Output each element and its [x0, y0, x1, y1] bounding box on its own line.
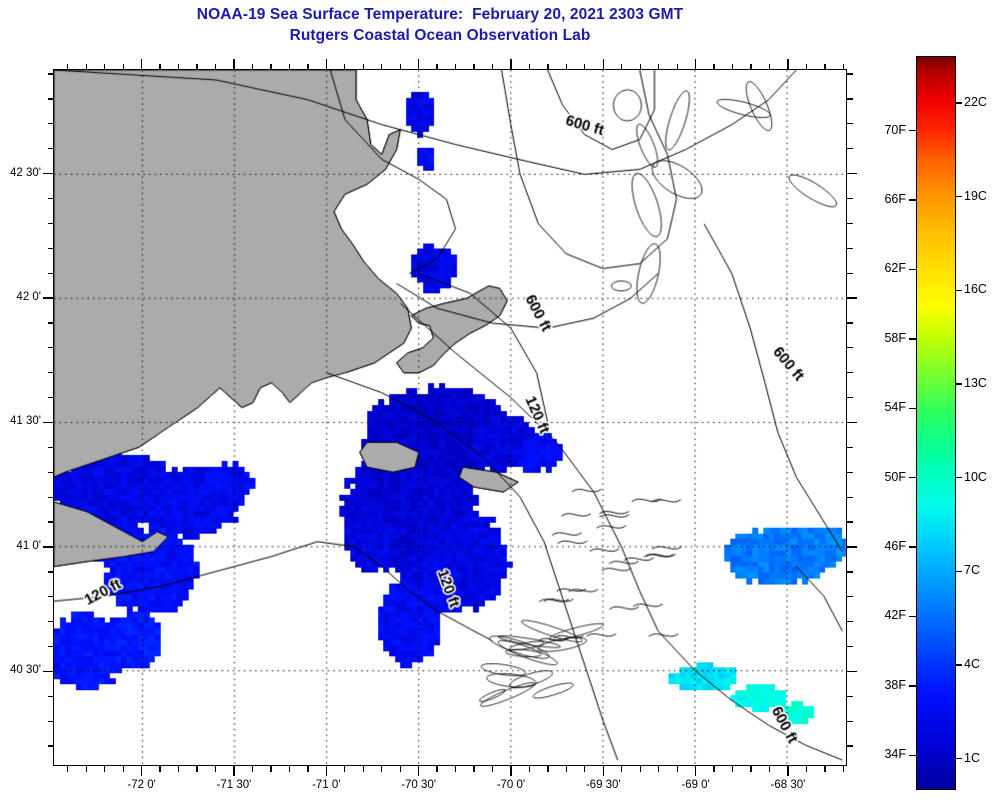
y-tick-right	[847, 322, 853, 323]
colorbar-tick-c	[956, 758, 962, 759]
y-tick-right	[847, 646, 853, 647]
x-tick-top	[270, 64, 271, 70]
x-tick-minor	[196, 766, 197, 772]
colorbar-label-fahrenheit: 50F	[854, 470, 906, 484]
y-tick-right	[847, 173, 857, 174]
x-tick-minor	[750, 766, 751, 772]
y-tick-right	[847, 273, 853, 274]
x-tick-top	[455, 64, 456, 70]
colorbar-label-fahrenheit: 54F	[854, 400, 906, 414]
x-tick-minor	[713, 766, 714, 772]
y-tick-minor	[48, 571, 54, 572]
x-tick-top	[732, 64, 733, 70]
y-tick-right	[847, 98, 853, 99]
x-tick-minor	[621, 766, 622, 772]
colorbar-tick-f	[909, 477, 916, 478]
x-tick-minor	[178, 766, 179, 772]
x-tick-minor	[215, 766, 216, 772]
x-tick-top	[566, 64, 567, 70]
colorbar-tick-c	[956, 383, 962, 384]
x-tick-top	[344, 64, 345, 70]
colorbar-label-celsius: 22C	[964, 95, 992, 109]
sst-colorbar	[916, 56, 956, 790]
y-tick-right	[847, 621, 853, 622]
y-tick-right	[847, 521, 853, 522]
x-tick-top	[806, 64, 807, 70]
x-tick-top	[510, 59, 511, 69]
y-tick-minor	[48, 397, 54, 398]
x-tick-minor	[640, 766, 641, 772]
x-tick-top	[233, 59, 234, 69]
colorbar-tick-c	[956, 290, 962, 291]
x-tick-minor	[418, 766, 419, 776]
x-tick-minor	[824, 766, 825, 772]
x-axis-label: -69 0'	[656, 779, 736, 791]
y-tick-right	[847, 397, 853, 398]
x-tick-minor	[566, 766, 567, 772]
x-tick-minor	[677, 766, 678, 772]
y-tick-right	[847, 447, 853, 448]
x-tick-top	[326, 59, 327, 69]
x-tick-minor	[510, 766, 511, 776]
x-tick-top	[547, 64, 548, 70]
y-tick-right	[847, 123, 853, 124]
sst-map-frame	[53, 69, 847, 766]
y-tick-minor	[48, 521, 54, 522]
colorbar-gradient	[916, 56, 956, 790]
y-tick-minor	[48, 123, 54, 124]
colorbar-label-fahrenheit: 46F	[854, 539, 906, 553]
x-tick-top	[603, 59, 604, 69]
x-tick-top	[695, 59, 696, 69]
colorbar-tick-f	[909, 546, 916, 547]
x-tick-minor	[307, 766, 308, 772]
x-tick-top	[750, 64, 751, 70]
x-axis-label: -71 30'	[194, 779, 274, 791]
colorbar-tick-f	[909, 408, 916, 409]
y-tick-minor	[48, 322, 54, 323]
x-tick-top	[584, 64, 585, 70]
x-tick-minor	[806, 766, 807, 772]
x-axis-label: -68 30'	[748, 779, 828, 791]
y-tick-minor	[48, 497, 54, 498]
y-tick-right	[847, 297, 857, 298]
y-tick-right	[847, 372, 853, 373]
x-tick-minor	[123, 766, 124, 772]
colorbar-tick-c	[956, 477, 962, 478]
x-tick-top	[677, 64, 678, 70]
y-tick-minor	[43, 546, 53, 547]
x-tick-top	[473, 64, 474, 70]
x-tick-top	[787, 59, 788, 69]
x-tick-top	[67, 64, 68, 70]
y-tick-right	[847, 696, 853, 697]
x-tick-minor	[381, 766, 382, 772]
x-tick-minor	[67, 766, 68, 772]
x-tick-top	[141, 59, 142, 69]
x-tick-top	[529, 64, 530, 70]
x-tick-minor	[603, 766, 604, 776]
x-tick-minor	[843, 766, 844, 772]
x-tick-minor	[529, 766, 530, 772]
y-tick-right	[847, 347, 853, 348]
y-tick-right	[847, 745, 853, 746]
x-tick-minor	[492, 766, 493, 772]
y-axis-label: 41 30'	[0, 415, 41, 427]
y-tick-minor	[48, 696, 54, 697]
colorbar-tick-f	[909, 199, 916, 200]
x-tick-minor	[252, 766, 253, 772]
colorbar-label-fahrenheit: 66F	[854, 192, 906, 206]
sst-map-canvas	[54, 70, 846, 765]
colorbar-label-celsius: 7C	[964, 563, 992, 577]
colorbar-tick-f	[909, 338, 916, 339]
x-tick-top	[86, 64, 87, 70]
x-tick-minor	[326, 766, 327, 776]
y-tick-minor	[43, 671, 53, 672]
x-tick-top	[381, 64, 382, 70]
x-tick-top	[123, 64, 124, 70]
x-tick-top	[769, 64, 770, 70]
colorbar-tick-c	[956, 102, 962, 103]
x-tick-top	[289, 64, 290, 70]
x-tick-top	[363, 64, 364, 70]
colorbar-label-celsius: 13C	[964, 376, 992, 390]
y-tick-minor	[43, 297, 53, 298]
x-axis-label: -70 0'	[471, 779, 551, 791]
colorbar-label-fahrenheit: 34F	[854, 747, 906, 761]
y-tick-minor	[48, 98, 54, 99]
x-tick-minor	[270, 766, 271, 772]
x-axis-label: -70 30'	[379, 779, 459, 791]
x-tick-top	[159, 64, 160, 70]
x-tick-top	[824, 64, 825, 70]
x-tick-top	[307, 64, 308, 70]
title-line-1: NOAA-19 Sea Surface Temperature: Februar…	[0, 4, 880, 25]
x-axis-label: -72 0'	[102, 779, 182, 791]
x-tick-minor	[86, 766, 87, 772]
y-tick-minor	[48, 198, 54, 199]
y-tick-right	[847, 571, 853, 572]
colorbar-tick-f	[909, 616, 916, 617]
x-tick-top	[713, 64, 714, 70]
colorbar-label-fahrenheit: 38F	[854, 678, 906, 692]
colorbar-label-fahrenheit: 70F	[854, 123, 906, 137]
y-tick-right	[847, 73, 853, 74]
y-tick-right	[847, 422, 857, 423]
x-tick-top	[178, 64, 179, 70]
y-tick-right	[847, 671, 857, 672]
y-tick-right	[847, 248, 853, 249]
colorbar-tick-f	[909, 130, 916, 131]
y-tick-minor	[48, 73, 54, 74]
y-axis-label: 42 0'	[0, 291, 41, 303]
y-tick-minor	[48, 621, 54, 622]
x-tick-top	[658, 64, 659, 70]
chart-title-block: NOAA-19 Sea Surface Temperature: Februar…	[0, 4, 880, 46]
y-tick-right	[847, 596, 853, 597]
x-tick-minor	[658, 766, 659, 772]
x-tick-top	[104, 64, 105, 70]
colorbar-label-celsius: 1C	[964, 751, 992, 765]
x-tick-minor	[584, 766, 585, 772]
y-axis-label: 40 30'	[0, 664, 41, 676]
x-tick-top	[492, 64, 493, 70]
x-tick-minor	[547, 766, 548, 772]
y-tick-minor	[48, 596, 54, 597]
x-tick-minor	[455, 766, 456, 772]
colorbar-label-celsius: 19C	[964, 189, 992, 203]
y-tick-minor	[48, 273, 54, 274]
x-tick-top	[436, 64, 437, 70]
y-tick-right	[847, 198, 853, 199]
x-tick-top	[843, 64, 844, 70]
x-tick-minor	[289, 766, 290, 772]
y-tick-minor	[48, 721, 54, 722]
y-tick-minor	[48, 223, 54, 224]
x-tick-minor	[233, 766, 234, 776]
x-tick-minor	[436, 766, 437, 772]
x-tick-minor	[787, 766, 788, 776]
y-tick-right	[847, 472, 853, 473]
y-tick-minor	[43, 422, 53, 423]
y-tick-right	[847, 223, 853, 224]
x-tick-top	[252, 64, 253, 70]
colorbar-label-fahrenheit: 42F	[854, 608, 906, 622]
x-tick-top	[400, 64, 401, 70]
y-tick-minor	[48, 472, 54, 473]
colorbar-label-celsius: 16C	[964, 282, 992, 296]
x-tick-top	[418, 59, 419, 69]
x-tick-minor	[473, 766, 474, 772]
y-tick-right	[847, 148, 853, 149]
colorbar-label-celsius: 10C	[964, 470, 992, 484]
x-tick-minor	[732, 766, 733, 772]
colorbar-label-celsius: 4C	[964, 657, 992, 671]
x-tick-minor	[159, 766, 160, 772]
x-tick-minor	[400, 766, 401, 772]
x-tick-minor	[363, 766, 364, 772]
y-tick-minor	[48, 447, 54, 448]
y-tick-minor	[48, 646, 54, 647]
y-tick-right	[847, 497, 853, 498]
x-tick-top	[215, 64, 216, 70]
x-tick-top	[640, 64, 641, 70]
x-axis-label: -71 0'	[286, 779, 366, 791]
y-tick-minor	[48, 347, 54, 348]
x-tick-minor	[695, 766, 696, 776]
colorbar-tick-c	[956, 196, 962, 197]
title-line-2: Rutgers Coastal Ocean Observation Lab	[0, 25, 880, 46]
y-axis-label: 42 30'	[0, 167, 41, 179]
y-tick-minor	[48, 248, 54, 249]
colorbar-tick-c	[956, 571, 962, 572]
y-tick-minor	[48, 372, 54, 373]
x-tick-top	[621, 64, 622, 70]
colorbar-label-fahrenheit: 62F	[854, 261, 906, 275]
y-tick-minor	[43, 173, 53, 174]
y-tick-minor	[48, 745, 54, 746]
y-tick-right	[847, 721, 853, 722]
colorbar-tick-f	[909, 755, 916, 756]
y-tick-minor	[48, 148, 54, 149]
x-tick-minor	[141, 766, 142, 776]
colorbar-tick-f	[909, 685, 916, 686]
x-tick-minor	[769, 766, 770, 772]
x-tick-minor	[344, 766, 345, 772]
colorbar-tick-f	[909, 269, 916, 270]
y-axis-label: 41 0'	[0, 540, 41, 552]
x-tick-minor	[104, 766, 105, 772]
colorbar-tick-c	[956, 664, 962, 665]
x-axis-label: -69 30'	[563, 779, 643, 791]
x-tick-top	[196, 64, 197, 70]
colorbar-label-fahrenheit: 58F	[854, 331, 906, 345]
